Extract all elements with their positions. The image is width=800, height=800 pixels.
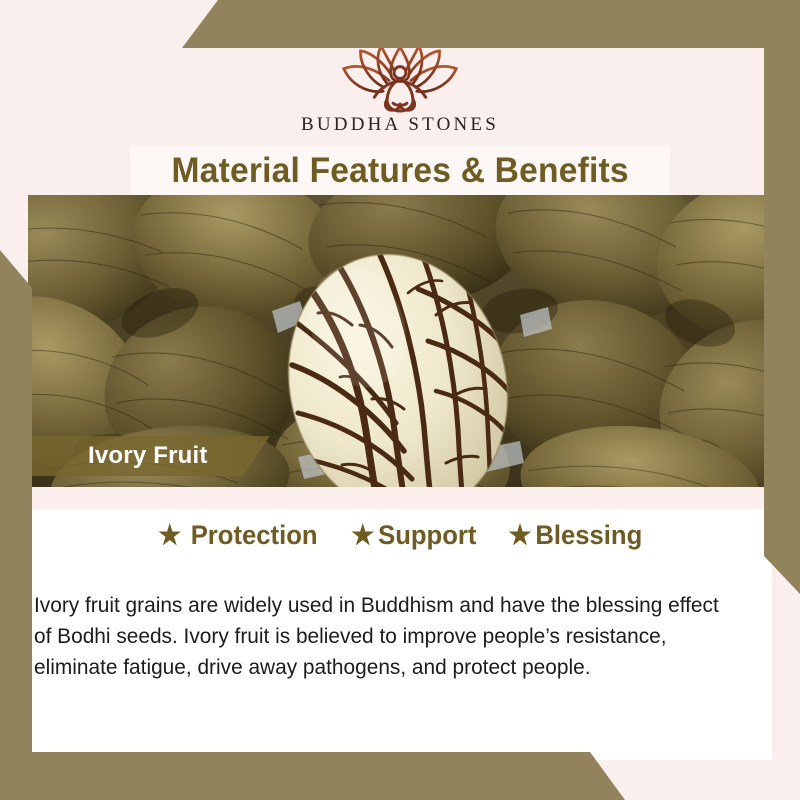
description-text: Ivory fruit grains are widely used in Bu…	[34, 590, 730, 683]
headline-inner: Material Features & Benefits	[130, 146, 670, 195]
frame-right-bar	[764, 44, 800, 594]
feature-item-blessing: ★ Blessing	[509, 520, 643, 551]
content-card: BUDDHA STONES Material Features & Benefi…	[28, 40, 772, 760]
feature-item-support: ★ Support	[351, 520, 476, 551]
headline-band: Material Features & Benefits	[28, 146, 772, 195]
brand-name: BUDDHA STONES	[301, 114, 499, 136]
page-title: Material Features & Benefits	[171, 151, 628, 191]
brand-header: BUDDHA STONES	[28, 40, 772, 146]
star-icon: ★	[158, 522, 181, 549]
poster: BUDDHA STONES Material Features & Benefi…	[0, 0, 800, 800]
feature-label-support: Support	[378, 520, 476, 551]
photo-caption-label: Ivory Fruit	[88, 442, 208, 470]
feature-item-protection: ★ Protection	[158, 520, 317, 551]
divider-strip	[28, 487, 772, 509]
frame-left-bar	[0, 250, 32, 800]
feature-label-protection: Protection	[191, 520, 318, 551]
star-icon: ★	[509, 522, 532, 549]
star-icon: ★	[351, 522, 374, 549]
lotus-meditation-icon	[325, 42, 475, 116]
feature-list: ★ Protection ★ Support ★ Blessing	[28, 520, 772, 551]
photo-caption-ribbon: Ivory Fruit	[28, 436, 270, 476]
feature-label-blessing: Blessing	[536, 520, 643, 551]
